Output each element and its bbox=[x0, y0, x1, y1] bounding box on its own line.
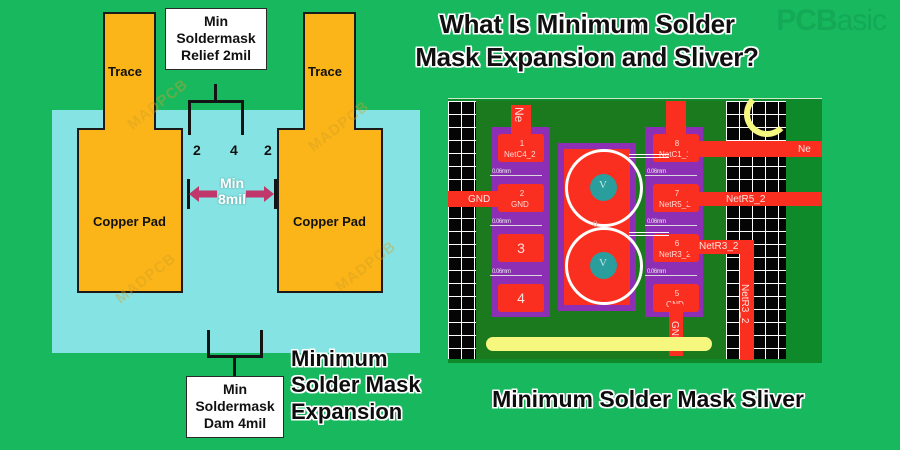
pad-right-8-number: 8 bbox=[672, 139, 682, 148]
infographic-canvas: PCBasic What Is Minimum Solder Mask Expa… bbox=[0, 0, 900, 450]
sliver-dimline-l3 bbox=[490, 275, 542, 276]
callout-top-line-2: Soldermask bbox=[172, 30, 260, 47]
left-caption: Minimum Solder Mask Expansion bbox=[291, 346, 441, 425]
sliver-dimline-r1 bbox=[645, 175, 697, 176]
pad-left-2-net: GND bbox=[511, 200, 529, 209]
sliver-dim-r3: 0.06mm bbox=[647, 269, 666, 275]
grid-strip-left bbox=[448, 101, 476, 359]
sliver-dimline-l2 bbox=[490, 225, 542, 226]
sliver-dim-r1: 0.06mm bbox=[647, 169, 666, 175]
callout-min-soldermask-dam: Min Soldermask Dam 4mil bbox=[186, 376, 284, 438]
pad-left-1-number: 1 bbox=[517, 139, 527, 148]
left-caption-line-2: Solder Mask bbox=[291, 372, 441, 398]
sliver-dim-l3: 0.06mm bbox=[492, 269, 511, 275]
sliver-dim-l2: 0.06mm bbox=[492, 219, 511, 225]
min-gap-line-1: Min bbox=[203, 175, 261, 191]
callout-top-line-3: Relief 2mil bbox=[172, 47, 260, 64]
track-label-netr3-v: NetR3_2 bbox=[739, 284, 750, 323]
dimension-number-right: 2 bbox=[264, 142, 272, 158]
track-label-gnd-left: GND bbox=[468, 194, 490, 205]
callout-bottom-line-1: Min bbox=[193, 381, 277, 398]
dam-outline-right bbox=[241, 100, 244, 135]
pad-right-6-number: 6 bbox=[672, 239, 682, 248]
copper-pad-right-label: Copper Pad bbox=[293, 214, 366, 229]
track-label-netr5: NetR5_2 bbox=[726, 194, 765, 205]
pad-left-3-number: 3 bbox=[515, 240, 527, 256]
pad-right-7-number: 7 bbox=[672, 189, 682, 198]
track-label-ne-right: Ne bbox=[798, 144, 811, 155]
via-center-text: 0 bbox=[593, 219, 598, 229]
dam-outline-left bbox=[188, 100, 191, 135]
callout-bottom-line-3: Dam 4mil bbox=[193, 415, 277, 432]
pad-right-5-number: 5 bbox=[672, 289, 682, 298]
min-gap-label: Min 8mil bbox=[203, 175, 261, 207]
sliver-dimline-r2 bbox=[645, 225, 697, 226]
track-label-netr3-h: NetR3_2 bbox=[699, 241, 738, 252]
pcb-cad-screenshot: V V 0 1 NetC4_2 Ne 2 GND GND 3 4 0.06mm … bbox=[448, 98, 822, 363]
callout-top-line-1: Min bbox=[172, 13, 260, 30]
sliver-arrow-bottom bbox=[629, 232, 669, 236]
copper-pad-left-label: Copper Pad bbox=[93, 214, 166, 229]
solder-mask-expansion-diagram: Trace Copper Pad Trace Copper Pad Min So… bbox=[0, 0, 446, 450]
via-label-top: V bbox=[599, 179, 607, 191]
sliver-dim-l1: 0.06mm bbox=[492, 169, 511, 175]
callout-top-stem bbox=[214, 84, 217, 102]
left-caption-line-3: Expansion bbox=[291, 399, 441, 425]
pad-left-1-net: NetC4_2 bbox=[504, 150, 536, 159]
via-label-bottom: V bbox=[599, 257, 607, 269]
logo-suffix: asic bbox=[837, 4, 886, 37]
sliver-arrow-top bbox=[629, 154, 669, 158]
dam-bracket-right bbox=[260, 330, 263, 358]
callout-min-soldermask-relief: Min Soldermask Relief 2mil bbox=[165, 8, 267, 70]
silkscreen-bar bbox=[486, 337, 712, 351]
callout-bottom-stem bbox=[233, 355, 236, 377]
trace-left-label: Trace bbox=[108, 64, 142, 79]
pad-right-8-stub bbox=[666, 101, 686, 135]
left-caption-line-1: Minimum bbox=[291, 346, 441, 372]
min-gap-line-2: 8mil bbox=[203, 191, 261, 207]
pad-right-7-net: NetR5_2 bbox=[659, 200, 691, 209]
dimension-number-left: 2 bbox=[193, 142, 201, 158]
callout-bottom-line-2: Soldermask bbox=[193, 398, 277, 415]
pad-left-2-number: 2 bbox=[517, 189, 527, 198]
gap-tick-right bbox=[274, 179, 277, 209]
dam-bracket-left bbox=[207, 330, 210, 358]
sliver-dimline-r3 bbox=[645, 275, 697, 276]
sliver-dimline-l1 bbox=[490, 175, 542, 176]
pad-right-6-net: NetR3_2 bbox=[659, 250, 691, 259]
sliver-dim-r2: 0.06mm bbox=[647, 219, 666, 225]
pad-left-4-number: 4 bbox=[515, 290, 527, 306]
right-caption: Minimum Solder Mask Sliver bbox=[448, 386, 848, 413]
track-label-ne-top: Ne bbox=[512, 107, 526, 122]
dimension-number-center: 4 bbox=[230, 142, 238, 158]
grid-strip-right bbox=[726, 101, 786, 359]
trace-right-label: Trace bbox=[308, 64, 342, 79]
